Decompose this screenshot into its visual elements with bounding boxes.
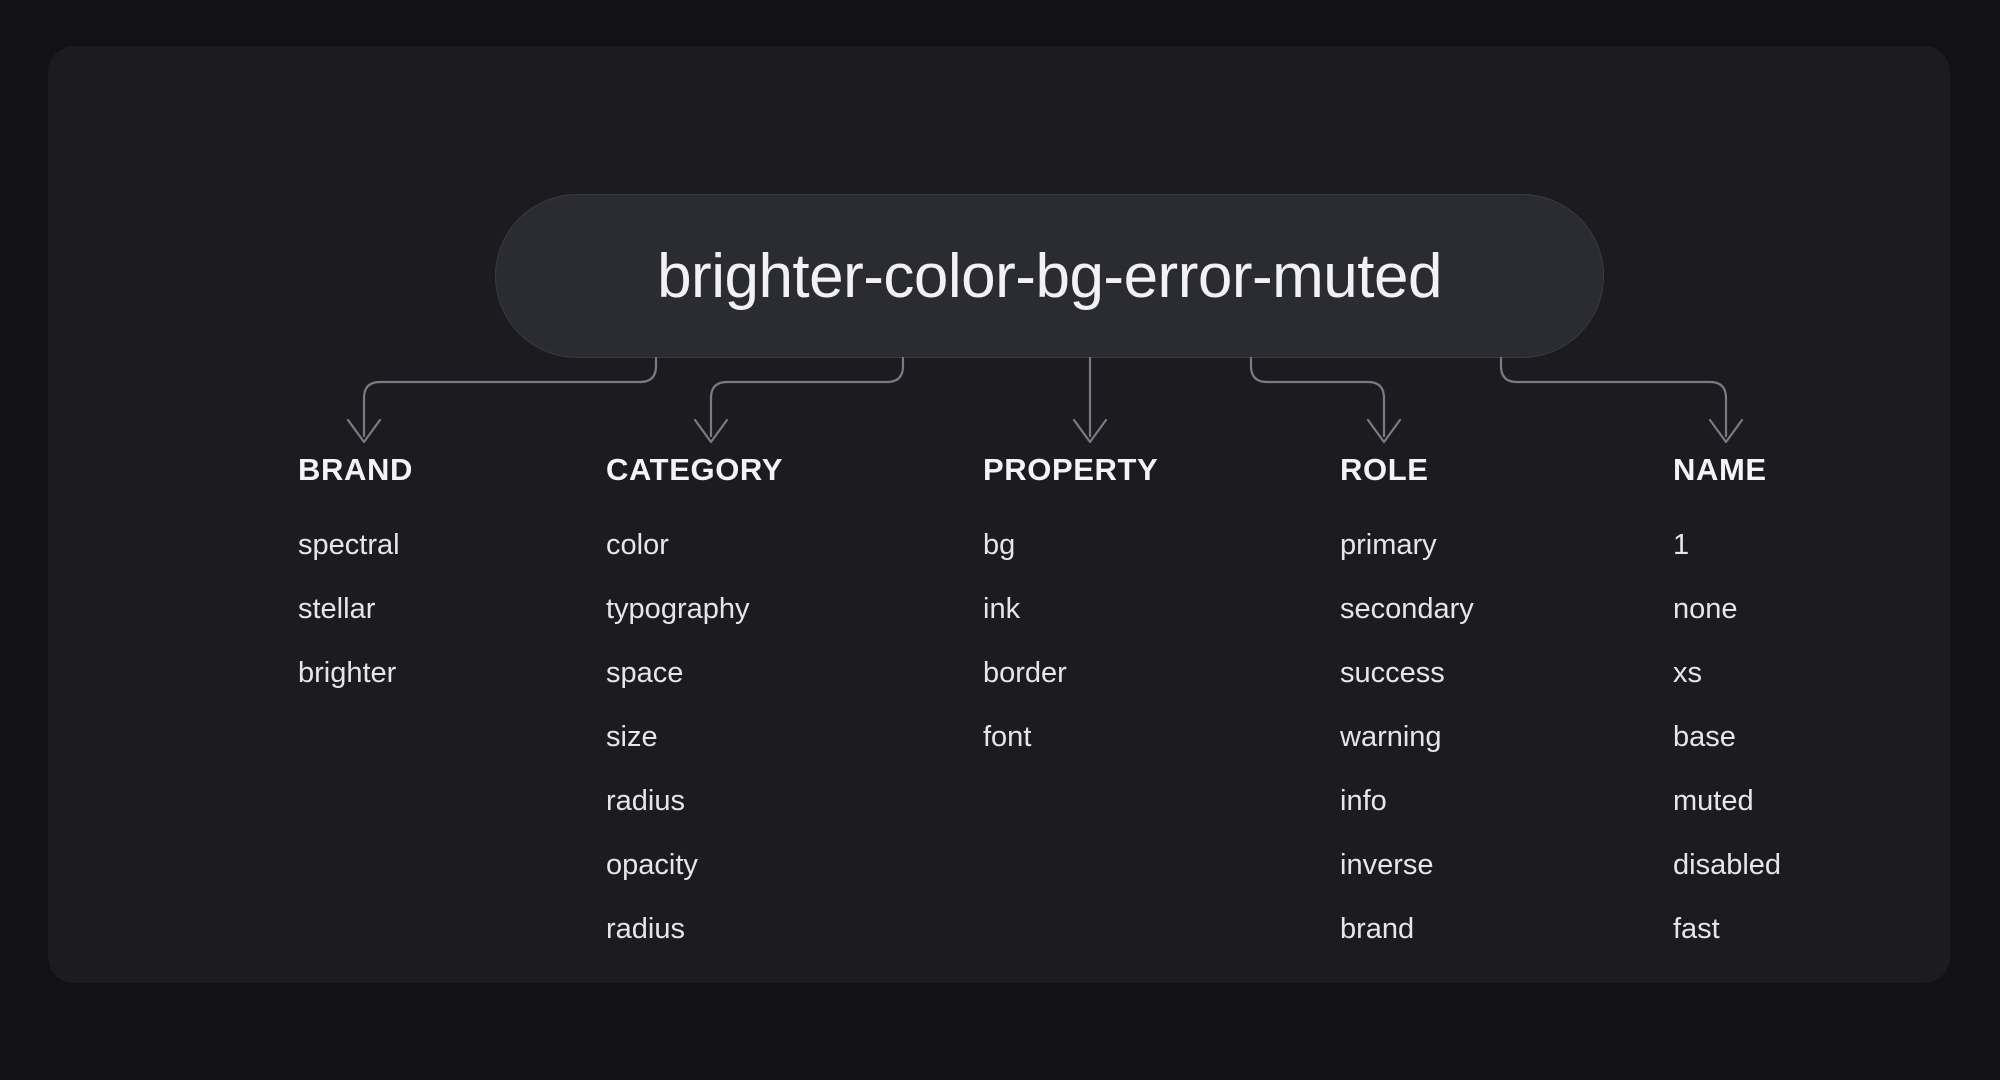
list-item[interactable]: ink	[983, 577, 1158, 641]
column-list-role: primary secondary success warning info i…	[1340, 513, 1474, 961]
list-item[interactable]: radius	[606, 769, 783, 833]
list-item[interactable]: secondary	[1340, 577, 1474, 641]
list-item[interactable]: radius	[606, 897, 783, 961]
list-item[interactable]: inverse	[1340, 833, 1474, 897]
arrow-down-icon	[695, 420, 727, 442]
list-item[interactable]: info	[1340, 769, 1474, 833]
list-item[interactable]: spectral	[298, 513, 413, 577]
list-item[interactable]: brand	[1340, 897, 1474, 961]
list-item[interactable]: none	[1673, 577, 1781, 641]
list-item[interactable]: opacity	[606, 833, 783, 897]
list-item[interactable]: fast	[1673, 897, 1781, 961]
arrow-down-icon	[1074, 420, 1106, 442]
column-header-role: ROLE	[1340, 454, 1474, 485]
connector-to-brand	[348, 358, 656, 442]
connector-to-property	[1074, 358, 1106, 442]
list-item[interactable]: primary	[1340, 513, 1474, 577]
arrow-down-icon	[348, 420, 380, 442]
token-name-pill[interactable]: brighter-color-bg-error-muted	[495, 194, 1604, 358]
list-item[interactable]: disabled	[1673, 833, 1781, 897]
list-item[interactable]: typography	[606, 577, 783, 641]
connector-to-role	[1251, 358, 1400, 442]
list-item[interactable]: 1	[1673, 513, 1781, 577]
column-header-property: PROPERTY	[983, 454, 1158, 485]
list-item[interactable]: xs	[1673, 641, 1781, 705]
list-item[interactable]: size	[606, 705, 783, 769]
column-header-category: CATEGORY	[606, 454, 783, 485]
diagram-card: brighter-color-bg-error-muted	[48, 46, 1950, 983]
list-item[interactable]: space	[606, 641, 783, 705]
column-category: CATEGORY color typography space size rad…	[606, 454, 783, 961]
column-header-name: NAME	[1673, 454, 1781, 485]
arrow-down-icon	[1710, 420, 1742, 442]
list-item[interactable]: stellar	[298, 577, 413, 641]
arrow-down-icon	[1368, 420, 1400, 442]
list-item[interactable]: border	[983, 641, 1158, 705]
column-list-property: bg ink border font	[983, 513, 1158, 769]
column-list-name: 1 none xs base muted disabled fast	[1673, 513, 1781, 961]
list-item[interactable]: color	[606, 513, 783, 577]
list-item[interactable]: success	[1340, 641, 1474, 705]
column-brand: BRAND spectral stellar brighter	[298, 454, 413, 705]
column-list-category: color typography space size radius opaci…	[606, 513, 783, 961]
list-item[interactable]: muted	[1673, 769, 1781, 833]
column-role: ROLE primary secondary success warning i…	[1340, 454, 1474, 961]
column-header-brand: BRAND	[298, 454, 413, 485]
list-item[interactable]: font	[983, 705, 1158, 769]
diagram-canvas: brighter-color-bg-error-muted	[0, 0, 2000, 1034]
column-property: PROPERTY bg ink border font	[983, 454, 1158, 769]
connector-to-category	[695, 358, 903, 442]
connector-to-name	[1501, 358, 1742, 442]
column-name: NAME 1 none xs base muted disabled fast	[1673, 454, 1781, 961]
list-item[interactable]: warning	[1340, 705, 1474, 769]
token-name-label: brighter-color-bg-error-muted	[657, 241, 1442, 312]
list-item[interactable]: base	[1673, 705, 1781, 769]
list-item[interactable]: bg	[983, 513, 1158, 577]
list-item[interactable]: brighter	[298, 641, 413, 705]
column-list-brand: spectral stellar brighter	[298, 513, 413, 705]
